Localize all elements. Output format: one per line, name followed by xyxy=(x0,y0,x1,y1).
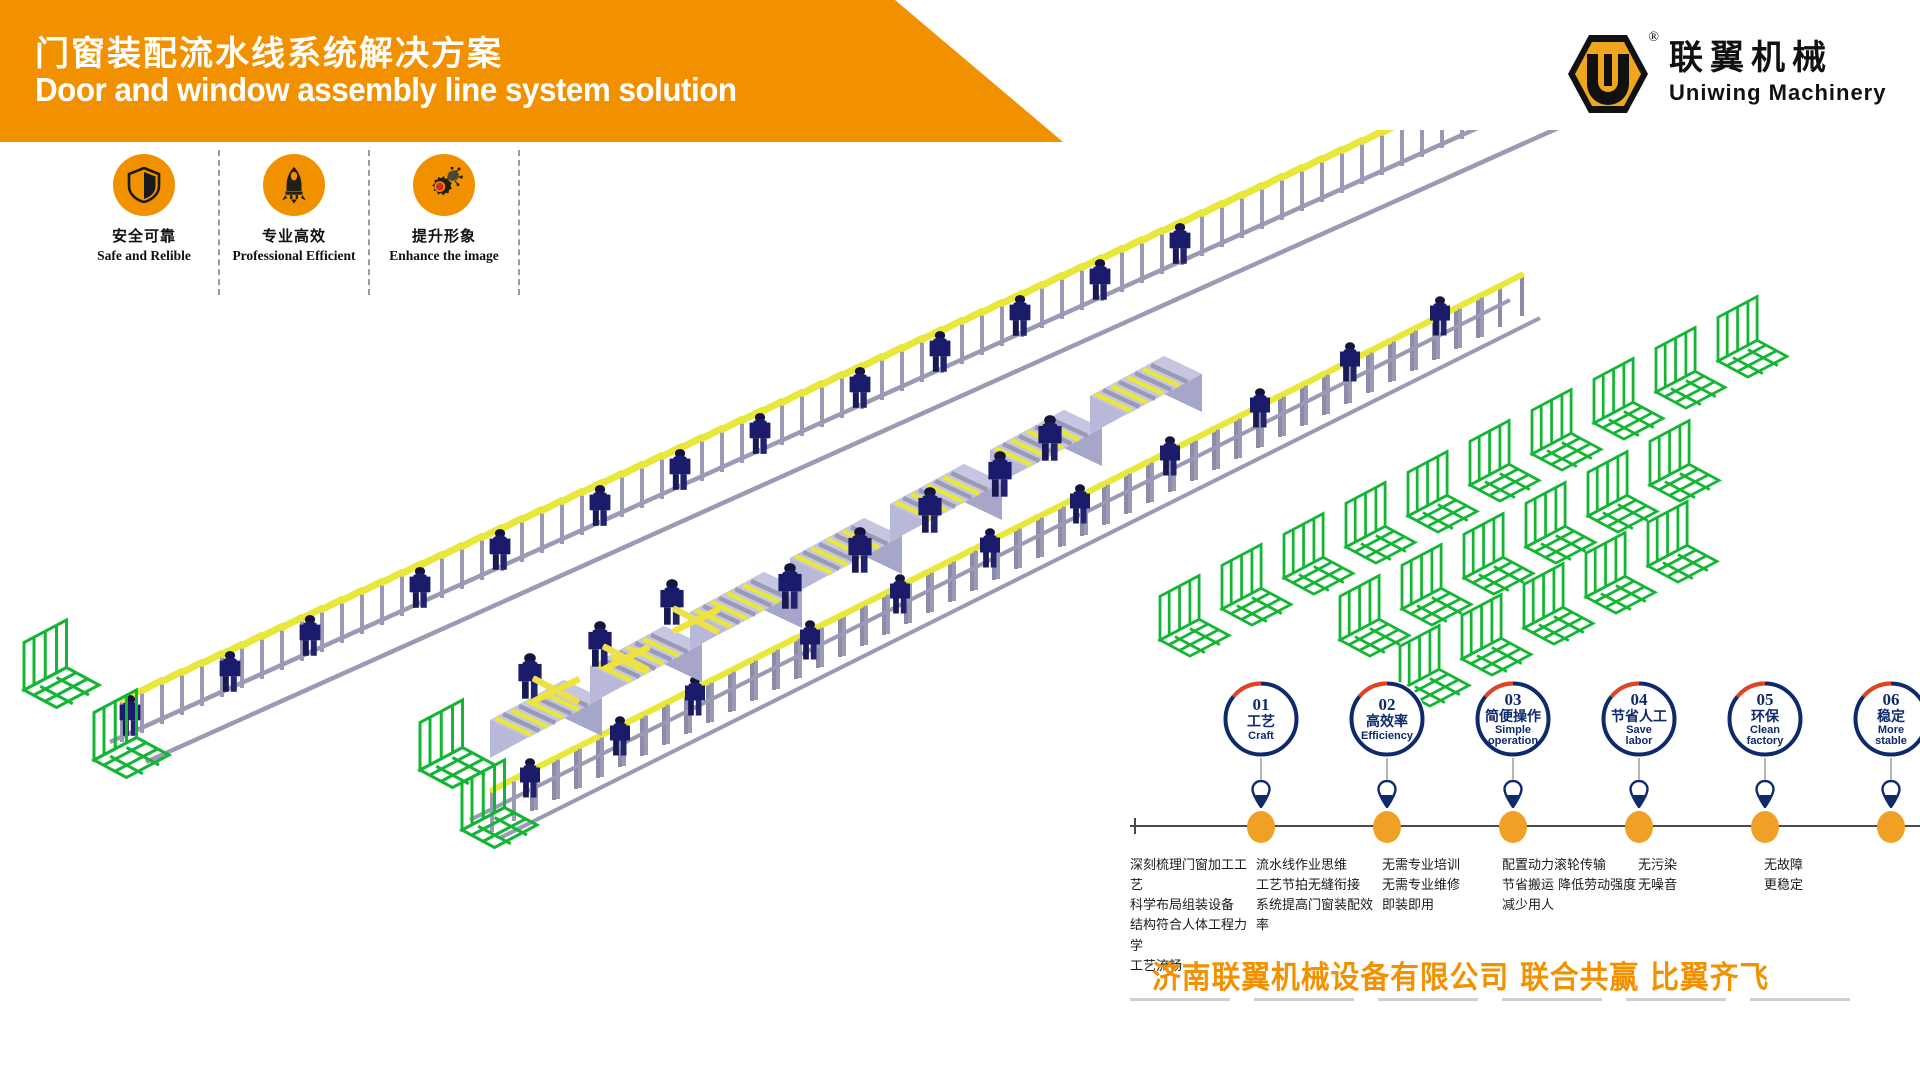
timeline-tick xyxy=(1134,818,1136,834)
timeline-label-cn: 简便操作 xyxy=(1485,710,1541,725)
header-banner: 门窗装配流水线系统解决方案 Door and window assembly l… xyxy=(0,0,1085,142)
timeline-label-en: Clean factory xyxy=(1747,725,1784,747)
company-name: 济南联翼机械设备有限公司 联合共赢 比翼齐飞 xyxy=(1152,952,1769,997)
company-footer: 济南联翼机械设备有限公司 联合共赢 比翼齐飞 xyxy=(1130,952,1920,1022)
timeline-circle-05[interactable]: 05 环保 Clean factory xyxy=(1726,680,1804,758)
timeline-description: 流水线作业思维 工艺节拍无缝衔接 系统提高门窗装配效率 xyxy=(1256,856,1382,937)
timeline-label-en: Efficiency xyxy=(1361,731,1413,742)
map-pin-icon xyxy=(1377,780,1397,808)
timeline-stem xyxy=(1638,758,1640,780)
timeline-circle-04[interactable]: 04 节省人工 Save labor xyxy=(1600,680,1678,758)
page-title-cn: 门窗装配流水线系统解决方案 xyxy=(35,26,503,75)
timeline-dot xyxy=(1877,811,1905,843)
middle-roller-conveyor-line xyxy=(110,130,1585,762)
logo-name-cn: 联翼机械 xyxy=(1669,41,1886,77)
timeline-dot xyxy=(1247,811,1275,843)
timeline-stem xyxy=(1260,758,1262,780)
timeline-description: 配置动力滚轮传输 节省搬运 降低劳动强度 减少用人 xyxy=(1502,856,1638,916)
footer-divider xyxy=(1502,998,1602,1001)
lower-assembly-table-line xyxy=(490,356,1202,758)
timeline-dot xyxy=(1499,811,1527,843)
timeline-stem xyxy=(1764,758,1766,780)
timeline-circle-06[interactable]: 06 稳定 More stable xyxy=(1852,680,1920,758)
timeline-label-en: More stable xyxy=(1875,725,1907,747)
timeline-number: 03 xyxy=(1485,691,1541,709)
timeline-number: 01 xyxy=(1247,696,1275,714)
logo-name-en: Uniwing Machinery xyxy=(1669,80,1886,106)
timeline-dot xyxy=(1373,811,1401,843)
timeline-label-en: Save labor xyxy=(1611,725,1667,747)
timeline-stem xyxy=(1386,758,1388,780)
map-pin-icon xyxy=(1755,780,1775,808)
timeline-number: 05 xyxy=(1747,691,1784,709)
timeline-dot xyxy=(1751,811,1779,843)
green-transport-carts-row3 xyxy=(1400,502,1717,706)
timeline-number: 02 xyxy=(1361,696,1413,714)
map-pin-icon xyxy=(1503,780,1523,808)
timeline-number: 06 xyxy=(1875,691,1907,709)
footer-divider xyxy=(1130,998,1230,1001)
timeline-number: 04 xyxy=(1611,691,1667,709)
page-title-en: Door and window assembly line system sol… xyxy=(35,71,737,109)
timeline-label-cn: 稳定 xyxy=(1875,710,1907,725)
timeline-dot xyxy=(1625,811,1653,843)
timeline-description: 无污染 无噪音 xyxy=(1638,856,1764,896)
uniwing-hexagon-u-logo-icon: ® xyxy=(1565,32,1651,116)
timeline-circle-02[interactable]: 02 高效率 Efficiency xyxy=(1348,680,1426,758)
green-transport-carts-row2 xyxy=(1340,421,1719,656)
timeline-label-cn: 工艺 xyxy=(1247,715,1275,730)
timeline-label-cn: 环保 xyxy=(1747,710,1784,725)
timeline-circle-03[interactable]: 03 简便操作 Simple operation xyxy=(1474,680,1552,758)
timeline-label-en: Craft xyxy=(1247,731,1275,742)
map-pin-icon xyxy=(1251,780,1271,808)
timeline-stem xyxy=(1890,758,1892,780)
registered-trademark-icon: ® xyxy=(1648,30,1659,46)
footer-divider xyxy=(1378,998,1478,1001)
timeline-label-en: Simple operation xyxy=(1485,725,1541,747)
footer-divider xyxy=(1254,998,1354,1001)
poster-root: 门窗装配流水线系统解决方案 Door and window assembly l… xyxy=(0,0,1920,1080)
brand-logo: ® 联翼机械 Uniwing Machinery xyxy=(1565,32,1886,116)
benefits-timeline: 01 工艺 Craft 02 高效率 Efficiency xyxy=(1130,680,1920,980)
timeline-description: 无故障 更稳定 xyxy=(1764,856,1890,896)
timeline-stem xyxy=(1512,758,1514,780)
timeline-circle-01[interactable]: 01 工艺 Craft xyxy=(1222,680,1300,758)
map-pin-icon xyxy=(1629,780,1649,808)
map-pin-icon xyxy=(1881,780,1901,808)
footer-divider xyxy=(1750,998,1850,1001)
timeline-label-cn: 高效率 xyxy=(1361,715,1413,730)
timeline-label-cn: 节省人工 xyxy=(1611,710,1667,725)
timeline-description: 无需专业培训 无需专业维修 即装即用 xyxy=(1382,856,1502,916)
footer-divider xyxy=(1626,998,1726,1001)
